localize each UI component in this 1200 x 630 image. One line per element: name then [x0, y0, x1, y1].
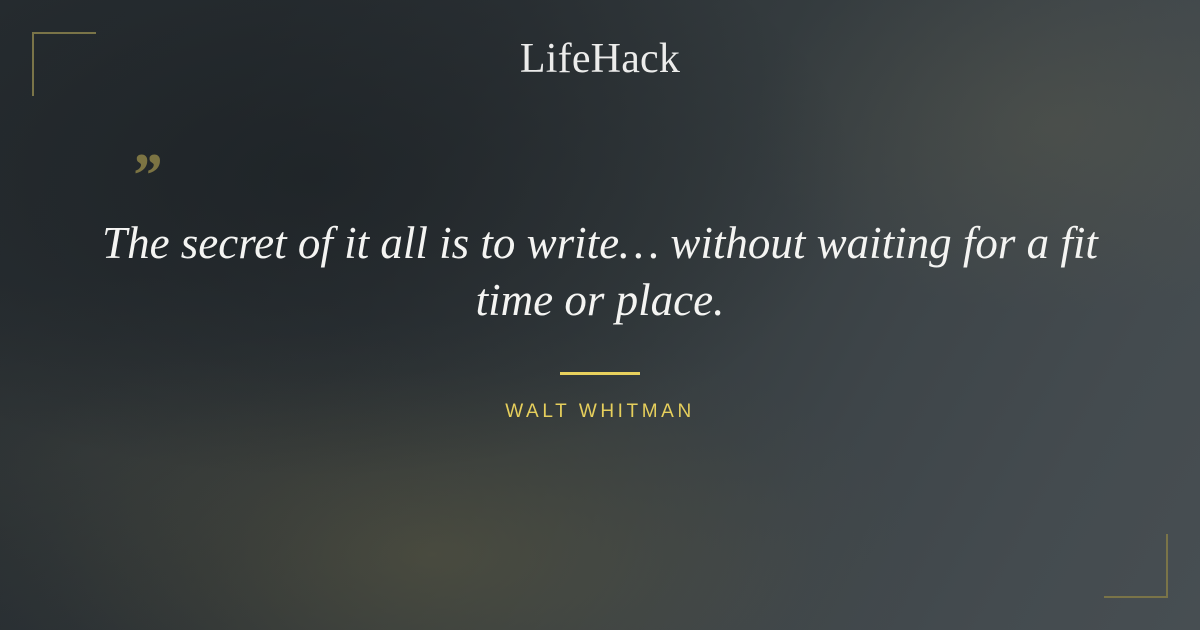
closing-double-quote-icon: ” [130, 155, 1120, 199]
quote-author: Walt Whitman [80, 401, 1120, 423]
quote-content: ” The secret of it all is to write… with… [80, 155, 1120, 423]
quote-card: LifeHack ” The secret of it all is to wr… [0, 0, 1200, 630]
quote-text: The secret of it all is to write… withou… [80, 215, 1120, 328]
corner-bracket-bottom-right-icon [1104, 534, 1168, 598]
brand-logo: LifeHack [0, 38, 1200, 80]
gold-divider [560, 372, 640, 375]
